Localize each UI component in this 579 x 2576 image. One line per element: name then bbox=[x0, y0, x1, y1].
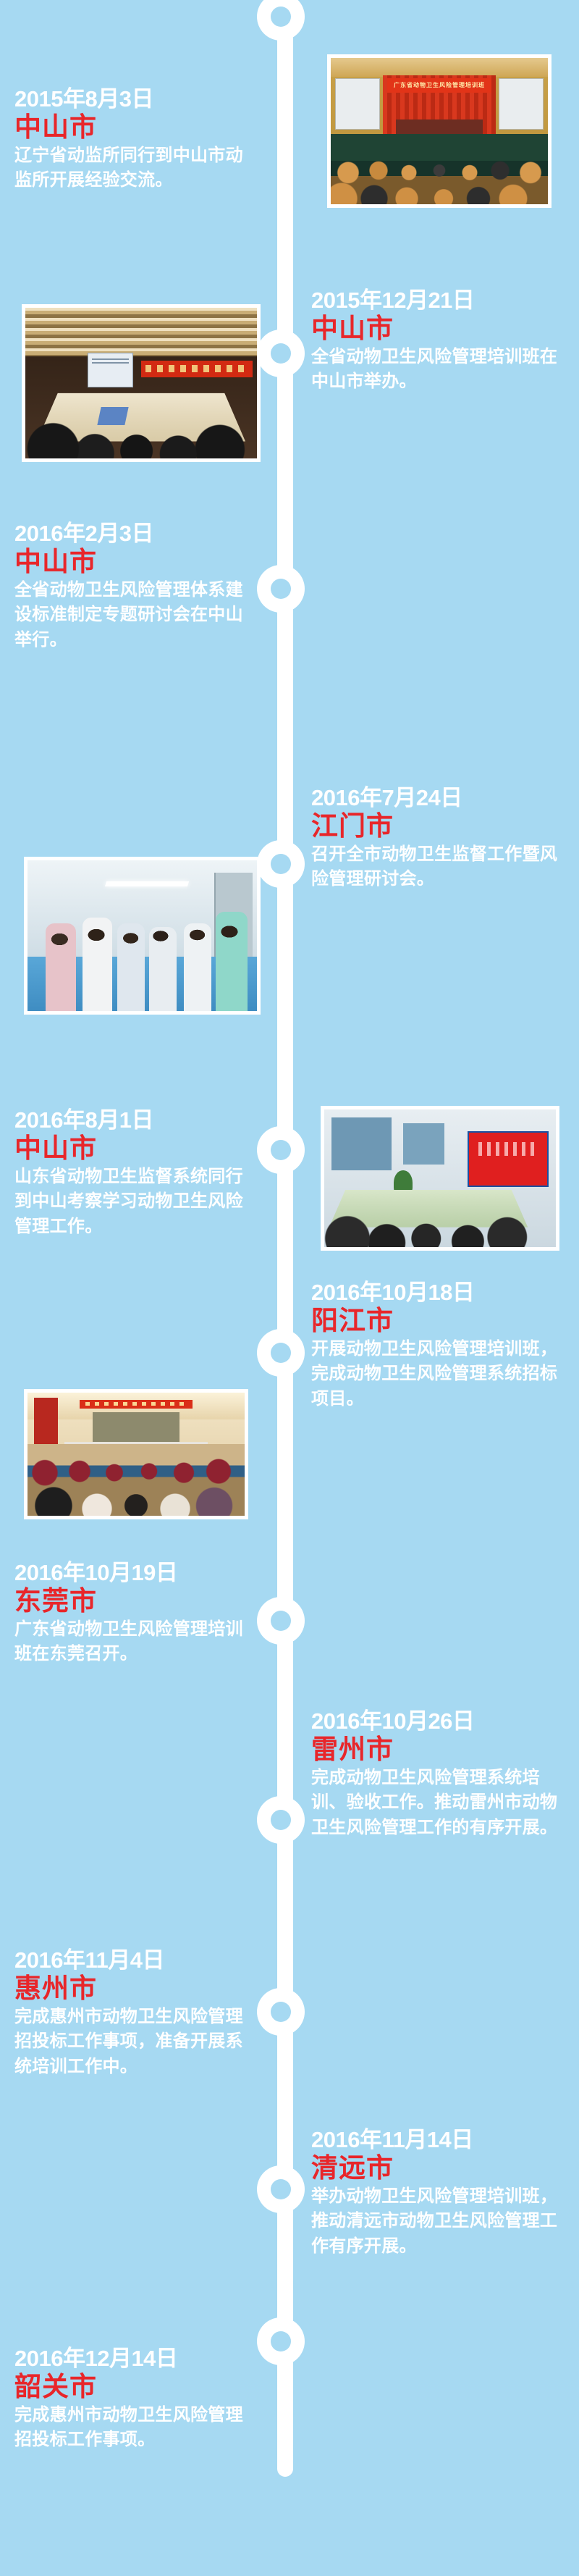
event-1-date: 2015年8月3日 bbox=[14, 87, 261, 112]
timeline-node-10 bbox=[257, 2165, 305, 2213]
event-9-city: 惠州市 bbox=[14, 1974, 261, 2004]
timeline-node-3 bbox=[257, 565, 305, 613]
event-11-description: 完成惠州市动物卫生风险管理招投标工作事项。 bbox=[14, 2403, 261, 2452]
timeline-event-9: 2016年11月4日 惠州市 完成惠州市动物卫生风险管理招投标工作事项，准备开展… bbox=[14, 1948, 261, 2079]
photo-3 bbox=[24, 857, 261, 1015]
event-3-description: 全省动物卫生风险管理体系建设标准制定专题研讨会在中山举行。 bbox=[14, 578, 261, 652]
event-5-date: 2016年8月1日 bbox=[14, 1108, 261, 1133]
photo-4 bbox=[321, 1106, 559, 1251]
event-7-city: 东莞市 bbox=[14, 1587, 261, 1616]
event-8-date: 2016年10月26日 bbox=[311, 1709, 566, 1734]
timeline-node-9 bbox=[257, 1988, 305, 2036]
event-4-city: 江门市 bbox=[311, 812, 566, 842]
event-10-description: 举办动物卫生风险管理培训班，推动清远市动物卫生风险管理工作有序开展。 bbox=[311, 2184, 566, 2258]
timeline-node-11 bbox=[257, 2317, 305, 2365]
timeline-event-8: 2016年10月26日 雷州市 完成动物卫生风险管理系统培训、验收工作。推动雷州… bbox=[311, 1709, 566, 1840]
photo-1-banner-text: 广东省动物卫生风险管理培训班 bbox=[387, 78, 491, 93]
photo-5 bbox=[24, 1389, 248, 1519]
event-1-city: 中山市 bbox=[14, 113, 261, 143]
timeline-node-4 bbox=[257, 840, 305, 888]
timeline-event-1: 2015年8月3日 中山市 辽宁省动监所同行到中山市动监所开展经验交流。 bbox=[14, 87, 261, 193]
event-2-description: 全省动物卫生风险管理培训班在中山市举办。 bbox=[311, 345, 566, 394]
event-3-date: 2016年2月3日 bbox=[14, 521, 261, 547]
event-7-description: 广东省动物卫生风险管理培训班在东莞召开。 bbox=[14, 1617, 261, 1666]
timeline-event-11: 2016年12月14日 韶关市 完成惠州市动物卫生风险管理招投标工作事项。 bbox=[14, 2346, 261, 2453]
event-11-date: 2016年12月14日 bbox=[14, 2346, 261, 2372]
event-7-date: 2016年10月19日 bbox=[14, 1561, 261, 1586]
event-2-date: 2015年12月21日 bbox=[311, 288, 566, 314]
timeline-node-2 bbox=[257, 330, 305, 377]
event-6-city: 阳江市 bbox=[311, 1306, 566, 1336]
timeline-node-8 bbox=[257, 1796, 305, 1844]
event-9-date: 2016年11月4日 bbox=[14, 1948, 261, 1973]
event-11-city: 韶关市 bbox=[14, 2372, 261, 2402]
timeline-event-3: 2016年2月3日 中山市 全省动物卫生风险管理体系建设标准制定专题研讨会在中山… bbox=[14, 521, 261, 653]
event-1-description: 辽宁省动监所同行到中山市动监所开展经验交流。 bbox=[14, 143, 261, 193]
event-9-description: 完成惠州市动物卫生风险管理招投标工作事项，准备开展系统培训工作中。 bbox=[14, 2005, 261, 2078]
event-10-date: 2016年11月14日 bbox=[311, 2128, 566, 2153]
timeline-event-10: 2016年11月14日 清远市 举办动物卫生风险管理培训班，推动清远市动物卫生风… bbox=[311, 2128, 566, 2259]
event-3-city: 中山市 bbox=[14, 547, 261, 577]
timeline-infographic: 广东省动物卫生风险管理培训班 bbox=[0, 0, 579, 2576]
timeline-node-6 bbox=[257, 1329, 305, 1377]
timeline-event-5: 2016年8月1日 中山市 山东省动物卫生监督系统同行到中山考察学习动物卫生风险… bbox=[14, 1108, 261, 1239]
timeline-node-5 bbox=[257, 1126, 305, 1174]
event-6-date: 2016年10月18日 bbox=[311, 1280, 566, 1306]
timeline-event-2: 2015年12月21日 中山市 全省动物卫生风险管理培训班在中山市举办。 bbox=[311, 288, 566, 395]
event-8-description: 完成动物卫生风险管理系统培训、验收工作。推动雷州市动物卫生风险管理工作的有序开展… bbox=[311, 1766, 566, 1839]
timeline-event-4: 2016年7月24日 江门市 召开全市动物卫生监督工作暨风险管理研讨会。 bbox=[311, 786, 566, 892]
event-6-description: 开展动物卫生风险管理培训班，完成动物卫生风险管理系统招标项目。 bbox=[311, 1337, 566, 1411]
event-5-city: 中山市 bbox=[14, 1134, 261, 1164]
photo-1: 广东省动物卫生风险管理培训班 bbox=[327, 54, 551, 208]
timeline-node-1 bbox=[257, 0, 305, 41]
timeline-node-7 bbox=[257, 1597, 305, 1645]
event-8-city: 雷州市 bbox=[311, 1735, 566, 1765]
photo-2 bbox=[22, 304, 261, 462]
event-4-date: 2016年7月24日 bbox=[311, 786, 566, 811]
event-2-city: 中山市 bbox=[311, 314, 566, 344]
event-5-description: 山东省动物卫生监督系统同行到中山考察学习动物卫生风险管理工作。 bbox=[14, 1165, 261, 1238]
event-10-city: 清远市 bbox=[311, 2154, 566, 2183]
timeline-event-7: 2016年10月19日 东莞市 广东省动物卫生风险管理培训班在东莞召开。 bbox=[14, 1561, 261, 1667]
timeline-event-6: 2016年10月18日 阳江市 开展动物卫生风险管理培训班，完成动物卫生风险管理… bbox=[311, 1280, 566, 1411]
event-4-description: 召开全市动物卫生监督工作暨风险管理研讨会。 bbox=[311, 842, 566, 891]
